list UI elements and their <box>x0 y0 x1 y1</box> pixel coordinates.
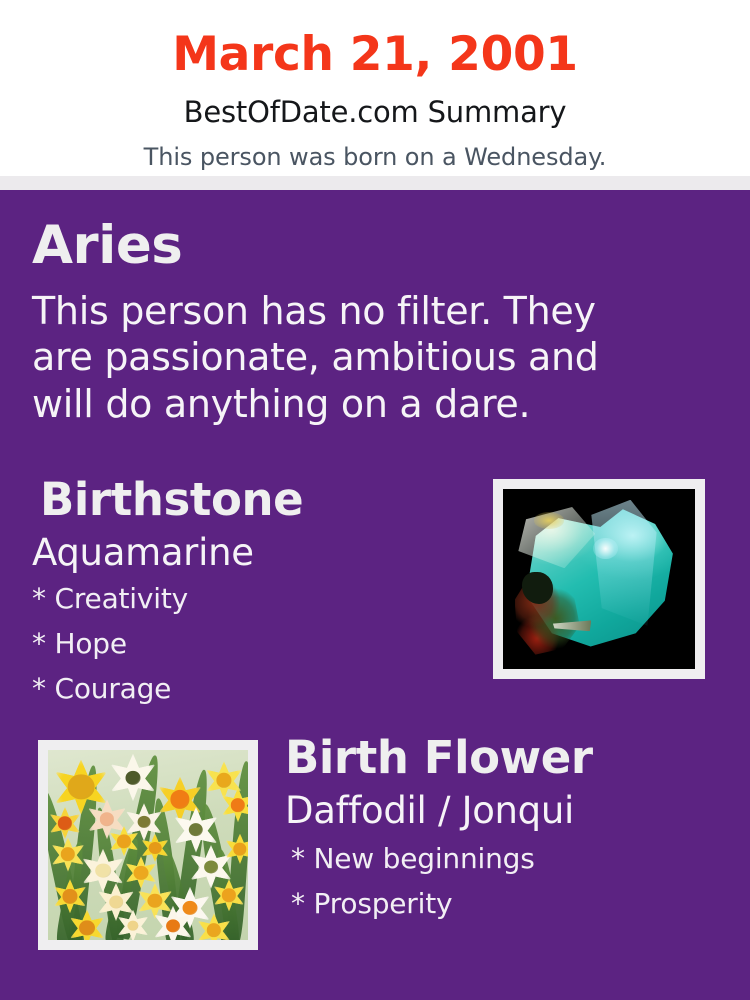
summary-card: March 21, 2001 BestOfDate.com Summary Th… <box>0 0 750 1000</box>
bloom-center <box>216 773 231 787</box>
bloom-center <box>68 774 95 799</box>
daffodil-field-icon <box>48 750 248 940</box>
aquamarine-crystal-icon <box>503 489 695 669</box>
gem-dark-speck <box>522 572 553 604</box>
bloom-center <box>149 842 162 854</box>
zodiac-block: Aries This person has no filter. They ar… <box>32 219 672 427</box>
bloom-center <box>170 790 189 808</box>
birthstone-trait-list: * Creativity * Hope * Courage <box>32 571 462 720</box>
birthflower-photo <box>48 750 248 940</box>
bloom-center <box>126 770 141 784</box>
bloom-center <box>166 919 180 932</box>
bloom-center <box>147 894 162 908</box>
bloom-center <box>183 901 198 915</box>
birthstone-block: Birthstone Aquamarine * Creativity * Hop… <box>32 477 462 720</box>
page-title: March 21, 2001 <box>0 0 750 78</box>
header-divider <box>0 176 750 190</box>
bloom-center <box>62 889 77 903</box>
birthstone-title: Birthstone <box>32 477 462 522</box>
bloom-center <box>127 920 138 931</box>
details-panel: Aries This person has no filter. They ar… <box>0 190 750 1000</box>
birthflower-trait-list: * New beginnings * Prosperity <box>283 829 713 935</box>
bloom-center <box>189 823 203 837</box>
list-item: * Hope <box>32 630 462 675</box>
list-item: * Creativity <box>32 585 462 630</box>
bloom-center <box>222 889 236 903</box>
birthstone-name: Aquamarine <box>32 522 462 571</box>
header-section: March 21, 2001 BestOfDate.com Summary Th… <box>0 0 750 176</box>
list-item: * Prosperity <box>291 890 713 935</box>
birthstone-photo <box>503 489 695 669</box>
bloom-center <box>233 842 246 855</box>
birthstone-photo-frame <box>493 479 705 679</box>
birthflower-block: Birth Flower Daffodil / Jonqui * New beg… <box>283 735 713 935</box>
zodiac-description: This person has no filter. They are pass… <box>32 288 657 427</box>
bloom-center <box>138 816 151 828</box>
birthflower-title: Birth Flower <box>283 735 713 780</box>
bloom-center <box>204 860 218 873</box>
birthflower-name: Daffodil / Jonqui <box>283 780 713 829</box>
bloom-center <box>117 835 131 848</box>
bloom-center <box>231 798 245 812</box>
bloom-center <box>134 865 149 879</box>
daffodil-bloom <box>52 760 110 815</box>
site-name: BestOfDate.com Summary <box>0 78 750 127</box>
bloom-center <box>109 896 123 909</box>
birthflower-photo-frame <box>38 740 258 950</box>
bloom-center <box>95 863 111 878</box>
birth-day-note: This person was born on a Wednesday. <box>0 127 750 169</box>
gem-inclusion-yellow <box>534 512 565 528</box>
list-item: * New beginnings <box>291 845 713 890</box>
list-item: * Courage <box>32 675 462 720</box>
bloom-center <box>207 924 221 938</box>
zodiac-sign-title: Aries <box>32 219 672 272</box>
bloom-center <box>61 848 75 862</box>
bloom-center <box>58 816 72 830</box>
bloom-center <box>100 813 114 827</box>
bloom-center <box>79 920 95 935</box>
